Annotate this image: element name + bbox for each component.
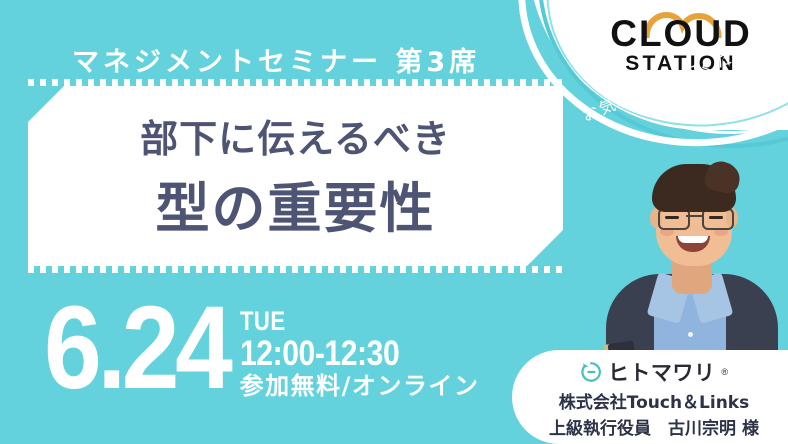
ticket-body: 部下に伝えるべき 型の重要性 — [28, 86, 563, 266]
hitomawari-logo: ヒトマワリ ® — [534, 359, 774, 385]
schedule-details: TUE 12:00-12:30 参加無料/オンライン — [240, 309, 480, 399]
perforation-bottom — [28, 266, 563, 273]
hitomawari-wordmark: ヒトマワリ — [608, 357, 716, 387]
portrait-teeth — [678, 236, 708, 243]
speaker-title-name: 上級執行役員 古川宗明 様 — [534, 414, 774, 439]
perforation-top — [28, 79, 563, 86]
event-day-of-week: TUE — [240, 309, 437, 335]
schedule-block: 6.24 TUE 12:00-12:30 参加無料/オンライン — [44, 300, 479, 399]
registered-trademark-mark: ® — [721, 367, 728, 377]
speaker-company: 株式会社Touch＆Links — [534, 388, 774, 413]
seminar-poster: CLOUD STATION マネジメントセミナー 第3席 部下に伝えるべき 型の… — [0, 0, 788, 444]
event-fee-format: 参加無料/オンライン — [240, 373, 480, 399]
event-time-range: 12:00-12:30 — [240, 336, 446, 371]
portrait-glasses-bridge — [686, 215, 702, 217]
portrait-shirt-button-1 — [688, 332, 693, 337]
speaker-info-card: ヒトマワリ ® 株式会社Touch＆Links 上級執行役員 古川宗明 様 — [512, 350, 788, 444]
title-line-2: 型の重要性 — [28, 164, 563, 243]
title-line-1: 部下に伝えるべき — [28, 108, 563, 163]
seminar-kicker: マネジメントセミナー 第3席 — [72, 40, 480, 79]
title-ticket-banner: 部下に伝えるべき 型の重要性 — [28, 86, 563, 266]
event-date: 6.24 — [44, 300, 229, 398]
circular-arrow-icon — [580, 361, 602, 383]
